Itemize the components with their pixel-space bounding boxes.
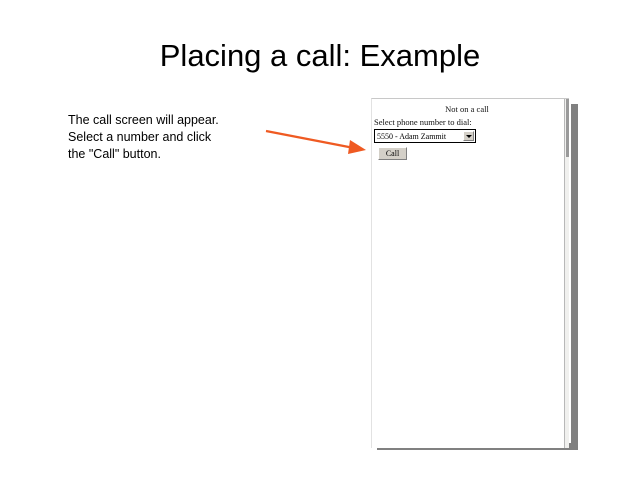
call-status-text: Not on a call	[372, 104, 562, 114]
scrollbar-thumb[interactable]	[566, 99, 569, 157]
vertical-scrollbar[interactable]	[564, 99, 569, 448]
dropdown-button[interactable]	[463, 131, 474, 141]
phone-number-select[interactable]: 5550 - Adam Zammit	[374, 129, 476, 143]
call-button-label: Call	[379, 149, 406, 159]
arrow-head	[348, 140, 366, 154]
slide-body-text: The call screen will appear. Select a nu…	[68, 112, 268, 163]
body-text-line: The call screen will appear.	[68, 112, 268, 129]
dial-number-label: Select phone number to dial:	[374, 117, 472, 127]
call-screen-screenshot: Not on a call Select phone number to dia…	[371, 98, 569, 448]
page-title: Placing a call: Example	[0, 38, 640, 74]
body-text-line: Select a number and click	[68, 129, 268, 146]
phone-number-select-value: 5550 - Adam Zammit	[377, 131, 446, 142]
pointer-arrow-icon	[258, 120, 373, 165]
arrow-shaft	[266, 131, 354, 148]
body-text-line: the "Call" button.	[68, 146, 268, 163]
call-button[interactable]: Call	[378, 147, 407, 160]
chevron-down-icon	[466, 135, 472, 138]
screenshot-shadow-right	[571, 104, 578, 448]
